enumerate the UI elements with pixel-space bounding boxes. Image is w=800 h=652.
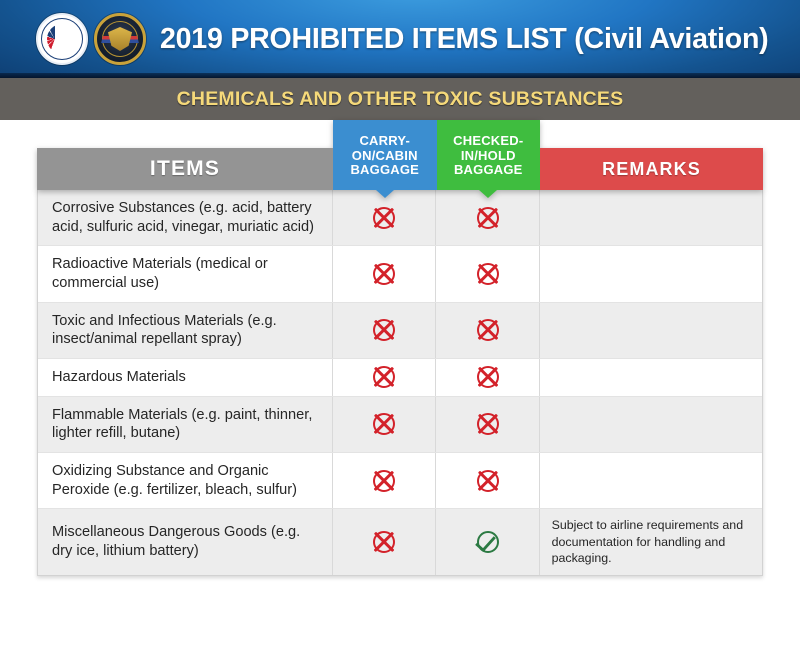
not-allowed-icon [371, 205, 397, 231]
cell-checked-in-status [436, 453, 539, 508]
not-allowed-icon [371, 411, 397, 437]
not-allowed-icon [475, 261, 501, 287]
cell-item-name: Hazardous Materials [38, 359, 333, 396]
table-row: Radioactive Materials (medical or commer… [38, 246, 762, 302]
page-banner: 2019 PROHIBITED ITEMS LIST (Civil Aviati… [0, 0, 800, 78]
cell-remarks [540, 303, 762, 358]
banner-logos [36, 13, 146, 65]
not-allowed-icon [371, 364, 397, 390]
cell-item-name: Toxic and Infectious Materials (e.g. ins… [38, 303, 333, 358]
cell-remarks: Subject to airline requirements and docu… [540, 509, 762, 574]
table-row: Miscellaneous Dangerous Goods (e.g. dry … [38, 509, 762, 574]
not-allowed-icon [475, 411, 501, 437]
category-subtitle-text: CHEMICALS AND OTHER TOXIC SUBSTANCES [177, 88, 624, 111]
cell-carry-on-status [333, 190, 436, 245]
cell-carry-on-status [333, 246, 436, 301]
column-header-carry-on: CARRY-ON/CABIN BAGGAGE [333, 148, 437, 190]
allowed-check-icon [475, 529, 501, 555]
table-row: Oxidizing Substance and Organic Peroxide… [38, 453, 762, 509]
cell-carry-on-status [333, 397, 436, 452]
caap-seal-logo [94, 13, 146, 65]
column-header-checked-in: CHECKED-IN/HOLD BAGGAGE [437, 148, 541, 190]
page-title: 2019 PROHIBITED ITEMS LIST (Civil Aviati… [160, 23, 768, 56]
table-row: Toxic and Infectious Materials (e.g. ins… [38, 303, 762, 359]
column-header-remarks: REMARKS [540, 148, 763, 190]
dotr-seal-logo [36, 13, 88, 65]
cell-carry-on-status [333, 303, 436, 358]
cell-checked-in-status [436, 397, 539, 452]
cell-item-name: Oxidizing Substance and Organic Peroxide… [38, 453, 333, 508]
not-allowed-icon [475, 317, 501, 343]
cell-checked-in-status [436, 190, 539, 245]
not-allowed-icon [475, 205, 501, 231]
dotr-seal-emblem [47, 24, 77, 54]
carry-on-pointer-icon [376, 190, 394, 198]
cell-item-name: Radioactive Materials (medical or commer… [38, 246, 333, 301]
not-allowed-icon [371, 529, 397, 555]
table-row: Hazardous Materials [38, 359, 762, 397]
cell-checked-in-status [436, 509, 539, 574]
cell-checked-in-status [436, 359, 539, 396]
not-allowed-icon [371, 317, 397, 343]
category-subtitle-bar: CHEMICALS AND OTHER TOXIC SUBSTANCES [0, 78, 800, 120]
cell-item-name: Miscellaneous Dangerous Goods (e.g. dry … [38, 509, 333, 574]
cell-checked-in-status [436, 246, 539, 301]
table-row: Flammable Materials (e.g. paint, thinner… [38, 397, 762, 453]
not-allowed-icon [475, 364, 501, 390]
cell-remarks [540, 246, 762, 301]
column-header-items: ITEMS [37, 148, 333, 190]
checked-in-pointer-icon [479, 190, 497, 198]
column-header-checked-in-tab: CHECKED-IN/HOLD BAGGAGE [437, 120, 541, 190]
cell-remarks [540, 397, 762, 452]
not-allowed-icon [475, 468, 501, 494]
content-sheet: ITEMS CARRY-ON/CABIN BAGGAGE CHECKED-IN/… [0, 120, 800, 652]
prohibited-items-table: ITEMS CARRY-ON/CABIN BAGGAGE CHECKED-IN/… [37, 148, 763, 576]
cell-carry-on-status [333, 453, 436, 508]
table-body: Corrosive Substances (e.g. acid, battery… [37, 190, 763, 576]
not-allowed-icon [371, 261, 397, 287]
table-header-row: ITEMS CARRY-ON/CABIN BAGGAGE CHECKED-IN/… [37, 148, 763, 190]
cell-carry-on-status [333, 359, 436, 396]
cell-item-name: Flammable Materials (e.g. paint, thinner… [38, 397, 333, 452]
cell-item-name: Corrosive Substances (e.g. acid, battery… [38, 190, 333, 245]
cell-remarks [540, 359, 762, 396]
cell-remarks [540, 190, 762, 245]
cell-checked-in-status [436, 303, 539, 358]
table-row: Corrosive Substances (e.g. acid, battery… [38, 190, 762, 246]
column-header-carry-on-tab: CARRY-ON/CABIN BAGGAGE [333, 120, 437, 190]
cell-remarks [540, 453, 762, 508]
cell-carry-on-status [333, 509, 436, 574]
not-allowed-icon [371, 468, 397, 494]
